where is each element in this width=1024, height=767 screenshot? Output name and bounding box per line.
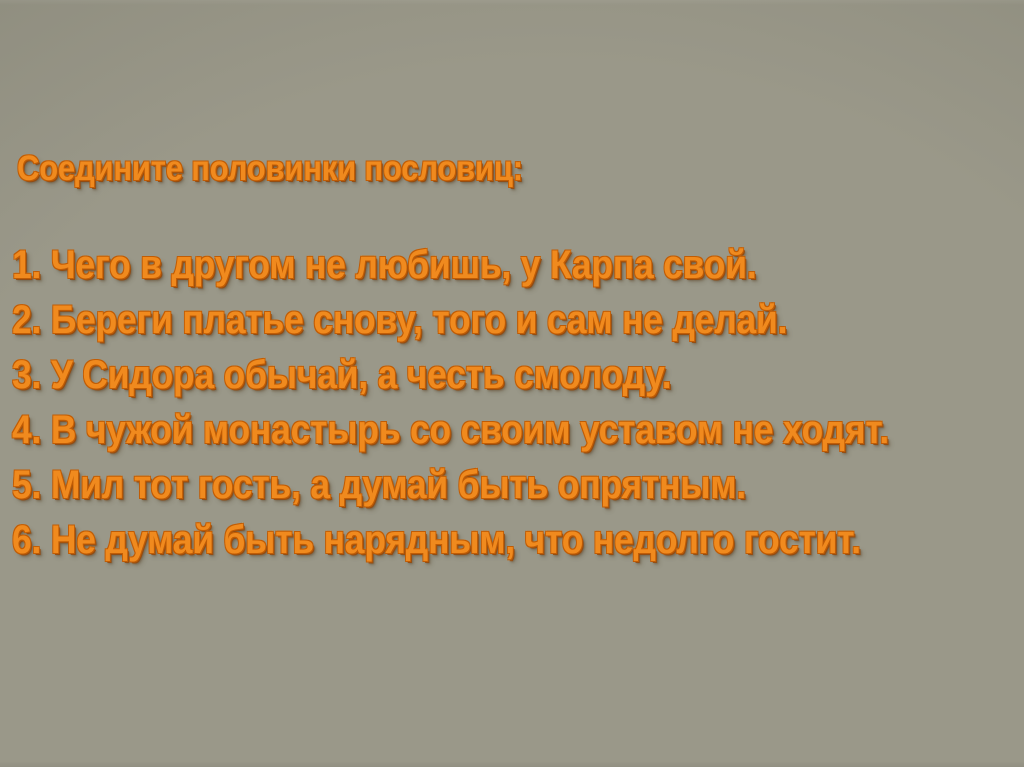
slide-content: Соедините половинки пословиц: 1. Чего в … xyxy=(0,0,1024,767)
proverb-line-1: 1. Чего в другом не любишь, у Карпа свой… xyxy=(12,242,756,288)
presentation-slide: Соедините половинки пословиц: 1. Чего в … xyxy=(0,0,1024,767)
proverb-line-4: 4. В чужой монастырь со своим уставом не… xyxy=(12,407,889,453)
proverb-line-3: 3. У Сидора обычай, а честь смолоду. xyxy=(12,352,671,398)
proverb-line-2: 2. Береги платье снову, того и сам не де… xyxy=(12,297,787,343)
proverb-line-6: 6. Не думай быть нарядным, что недолго г… xyxy=(12,517,861,563)
slide-heading: Соедините половинки пословиц: xyxy=(17,149,523,189)
proverb-line-5: 5. Мил тот гость, а думай быть опрятным. xyxy=(12,462,746,508)
